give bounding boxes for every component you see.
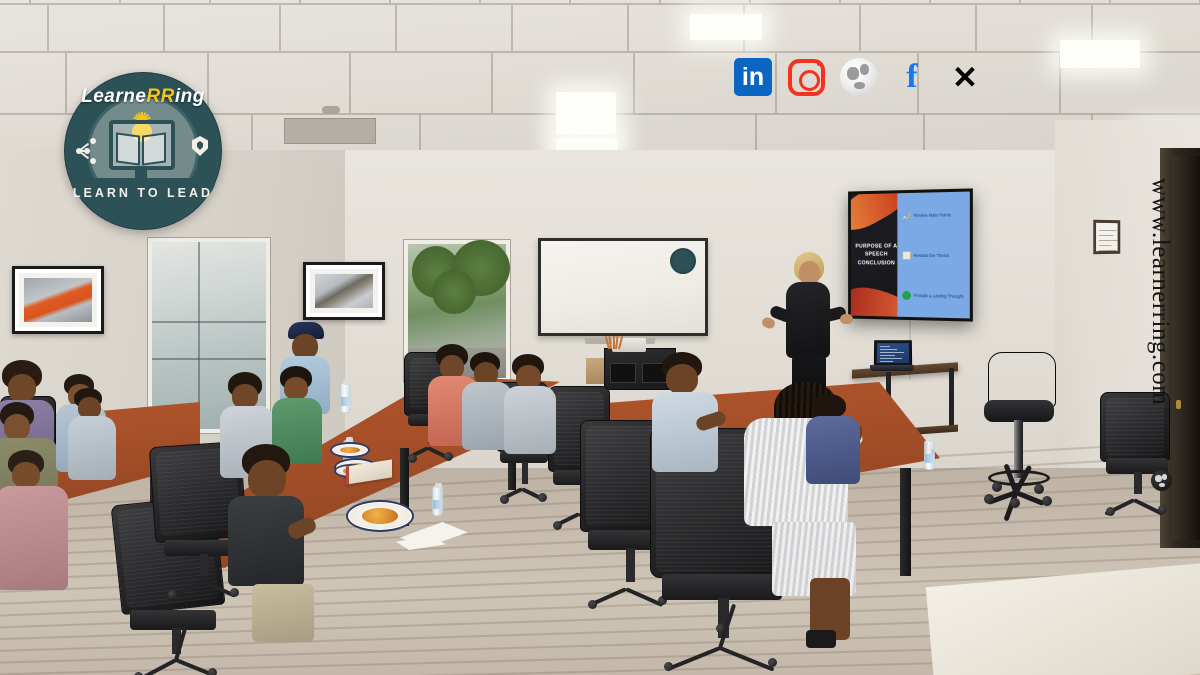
laptop-keyboard[interactable] [870, 365, 914, 371]
stool-base [986, 482, 1052, 504]
helicopter-photo [12, 266, 104, 334]
ceiling-tile [512, 4, 628, 52]
office-chair[interactable] [1100, 392, 1174, 522]
node-network-icon [76, 138, 98, 164]
snack-plate [330, 442, 370, 458]
ceiling-tile [0, 4, 48, 52]
globe-landmass [847, 67, 859, 80]
ceiling-tile [350, 52, 492, 114]
photo-image [315, 274, 373, 308]
presenter [768, 252, 846, 402]
slide-bullet: Restate the Thesis [902, 251, 970, 260]
stool-caster [992, 482, 1002, 492]
node-dot [90, 158, 96, 164]
ceiling-tile [0, 52, 66, 114]
student [652, 352, 724, 472]
snack-plate [346, 500, 414, 532]
ceiling-tile [396, 4, 512, 52]
globe-landmass [860, 64, 869, 75]
smoke-detector-icon [322, 106, 340, 114]
laptop-screen-line [880, 349, 897, 350]
ceiling-light [690, 14, 762, 40]
laptop-screen [877, 343, 909, 363]
television-display: PURPOSE OF A SPEECH CONCLUSION Review Ma… [848, 188, 973, 321]
ceiling-tile [208, 52, 350, 114]
instagram-glyph [788, 59, 825, 96]
ceiling-tile [164, 4, 280, 52]
door-knob[interactable] [1176, 400, 1181, 409]
slide-bullet-text: Review Main Points [914, 212, 951, 218]
stool-caster [1034, 484, 1044, 494]
slide-bullet-text: Restate the Thesis [914, 253, 949, 258]
chart-icon [902, 211, 911, 220]
facebook-icon[interactable]: f [892, 57, 932, 97]
aircraft-photo [303, 262, 385, 320]
laptop-screen-line [880, 358, 902, 359]
laptop-screen-line [880, 352, 904, 353]
logo-wordmark: LearneRRing [64, 86, 222, 108]
ceiling-tile [280, 4, 396, 52]
node-link [79, 150, 86, 152]
water-bottle[interactable] [924, 440, 935, 470]
logo-tagline: LEARN TO LEAD [73, 186, 213, 200]
student [222, 444, 314, 644]
presenter-torso [786, 282, 830, 358]
chair-base [500, 480, 548, 500]
stool-caster [1010, 498, 1020, 508]
classroom-photo: PURPOSE OF A SPEECH CONCLUSION Review Ma… [0, 0, 1200, 675]
logo-word-part-2: RR [146, 86, 174, 107]
stool-caster [984, 494, 994, 504]
presenter-hand-right [840, 314, 853, 324]
ceiling-tile [48, 4, 164, 52]
student [68, 388, 122, 480]
slide-bullet: Review Main Points [902, 210, 970, 220]
website-globe-icon [1151, 470, 1172, 491]
door[interactable] [1172, 156, 1200, 540]
green-circle-icon [902, 291, 911, 300]
globe-landmass [1162, 474, 1167, 480]
slide-bullet: Provide a Lasting Thought [902, 291, 970, 301]
podium-leg [949, 368, 954, 432]
stool-caster [1042, 496, 1052, 506]
logo-word-part-1: Learne [81, 86, 146, 107]
whiteboard [538, 238, 708, 336]
laptop-screen-line [880, 355, 895, 356]
stool-seat [984, 400, 1054, 422]
student [806, 394, 866, 484]
laptop-screen-line [880, 346, 890, 347]
x-twitter-icon[interactable]: ✕ [945, 57, 985, 97]
slide-content-panel: Review Main Points Restate the Thesis Pr… [897, 192, 970, 319]
globe-landmass [1159, 483, 1165, 487]
ceiling-tile [860, 4, 976, 52]
chair-base [1106, 490, 1168, 514]
learnerring-logo: LearneRRing LEARN TO LEAD [64, 72, 222, 230]
social-icon-row: in f ✕ [733, 57, 985, 97]
water-bottle[interactable] [340, 383, 351, 413]
ceiling-light [1060, 40, 1140, 68]
laptop-lid [874, 340, 912, 366]
open-book-icon [116, 134, 168, 164]
globe-icon[interactable] [839, 57, 879, 97]
whiteboard-logo-icon [670, 248, 696, 274]
linkedin-glyph: in [734, 58, 772, 96]
globe-landmass [1155, 475, 1162, 482]
instagram-icon[interactable] [786, 57, 826, 97]
ceiling-light [556, 92, 616, 134]
drafting-stool[interactable] [980, 352, 1058, 512]
pen-holder [608, 336, 620, 349]
slide-bullet-text: Provide a Lasting Thought [914, 293, 964, 299]
globe-glyph [840, 58, 878, 96]
chair-base [132, 648, 220, 675]
student [504, 354, 562, 454]
table-leg [900, 468, 911, 576]
ceiling-vent [284, 118, 376, 144]
framed-certificate [1093, 220, 1120, 255]
linkedin-icon[interactable]: in [733, 57, 773, 97]
laptop-screen-line [880, 361, 893, 362]
globe-landmass [854, 82, 865, 89]
node-dot [90, 138, 96, 144]
laptop[interactable] [870, 340, 914, 372]
document-icon [902, 251, 911, 260]
water-bottle[interactable] [432, 486, 443, 516]
slide-title: PURPOSE OF A SPEECH CONCLUSION [855, 242, 898, 267]
website-url[interactable]: www.learnerring.com [1146, 178, 1174, 405]
logo-word-part-3: ing [175, 86, 205, 107]
photo-image [24, 278, 92, 322]
slide-title-panel: PURPOSE OF A SPEECH CONCLUSION [851, 193, 897, 316]
